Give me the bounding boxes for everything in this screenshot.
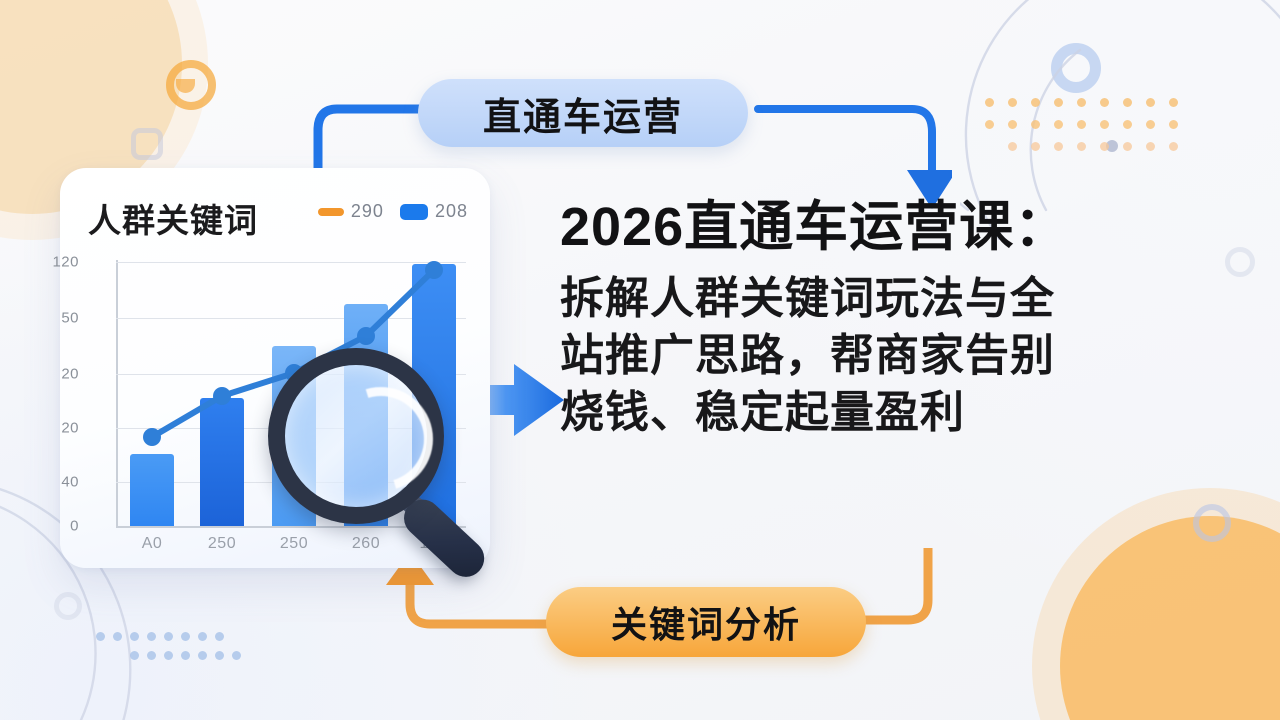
chart-y-tick-label: 20 [61, 366, 79, 383]
decor-ring-blue-bottom-right [1193, 504, 1231, 542]
decor-circle-bottom-right [1060, 516, 1280, 720]
decor-ring-orange-top-left [166, 60, 216, 110]
legend-swatch-bar-icon [400, 204, 428, 220]
legend-swatch-line-icon [318, 208, 344, 216]
decor-dot-grid-blue [96, 632, 249, 670]
magnifier-glint [311, 369, 452, 510]
connector-bottom-badge-right-tail [860, 548, 990, 669]
poster-canvas: 人群关键词 290 208 120 50 20 20 40 0 [0, 0, 1280, 720]
chart-y-tick-label: 50 [61, 310, 79, 327]
legend-label-line: 290 [351, 201, 384, 222]
text-block: 2026直通车运营课： 拆解人群关键词玩法与全 站推广思路，帮商家告别 烧钱、稳… [560, 196, 1260, 441]
chart-y-tick-label: 20 [61, 420, 79, 437]
page-title: 2026直通车运营课： [560, 196, 1260, 260]
chart-y-tick-label: 120 [52, 254, 79, 271]
chart-y-tick-label: 40 [61, 474, 79, 491]
chart-x-tick-label: 250 [208, 535, 236, 553]
page-subtitle: 拆解人群关键词玩法与全 站推广思路，帮商家告别 烧钱、稳定起量盈利 [560, 270, 1260, 442]
subtitle-line: 拆解人群关键词玩法与全 [560, 270, 1260, 327]
chart-title: 人群关键词 [88, 194, 258, 242]
magnifier-icon [268, 348, 498, 568]
magnifier-lens [268, 348, 444, 524]
subtitle-line: 站推广思路，帮商家告别 [560, 327, 1260, 384]
decor-dot-grid-orange [985, 98, 1192, 164]
legend-item-bar: 208 [400, 201, 468, 222]
badge-top[interactable]: 直通车运营 [418, 79, 748, 147]
chart-y-tick-label: 0 [70, 518, 79, 535]
chart-legend: 290 208 [318, 201, 468, 222]
legend-item-line: 290 [318, 201, 384, 222]
chart-x-tick-label: A0 [142, 535, 163, 553]
decor-ring-grey-top-left [131, 128, 163, 160]
legend-label-bar: 208 [435, 201, 468, 222]
badge-bottom[interactable]: 关键词分析 [546, 587, 866, 657]
subtitle-line: 烧钱、稳定起量盈利 [560, 384, 1260, 441]
